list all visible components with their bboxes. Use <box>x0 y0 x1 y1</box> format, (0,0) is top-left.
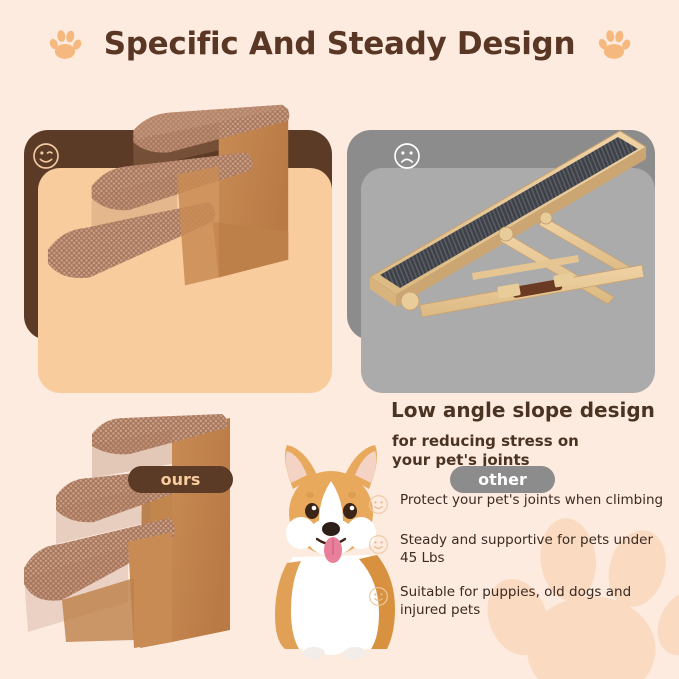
list-item-text: Protect your pet's joints when climbing <box>400 492 663 510</box>
winking-smiley-face-icon <box>31 141 61 171</box>
paw-print-icon <box>48 27 82 61</box>
feature-section: Low angle slope design for reducing stre… <box>0 382 679 679</box>
feature-bullet-list: Protect your pet's joints when climbing … <box>368 492 674 636</box>
smiley-face-icon <box>368 586 389 607</box>
page-title: Specific And Steady Design <box>104 26 575 62</box>
label-ours: ours <box>128 466 233 493</box>
label-other: other <box>450 466 555 493</box>
pet-stairs-3-tier-foam-icon <box>38 82 316 322</box>
feature-subhead-line1: for reducing stress on <box>392 432 672 451</box>
smiley-face-icon <box>368 534 389 555</box>
list-item: Protect your pet's joints when climbing <box>368 492 674 515</box>
comparison-section: ours <box>0 130 679 375</box>
feature-copy: Low angle slope design for reducing stre… <box>392 398 672 470</box>
label-other-text: other <box>478 470 527 489</box>
list-item-text: Steady and supportive for pets under 45 … <box>400 532 674 567</box>
smiley-face-icon <box>368 494 389 515</box>
label-ours-text: ours <box>161 470 201 489</box>
list-item: Suitable for puppies, old dogs and injur… <box>368 584 674 619</box>
list-item: Steady and supportive for pets under 45 … <box>368 532 674 567</box>
paw-print-icon <box>597 27 631 61</box>
page-header: Specific And Steady Design <box>0 18 679 70</box>
feature-subhead: for reducing stress on your pet's joints <box>392 432 672 470</box>
feature-headline: Low angle slope design <box>391 398 672 422</box>
list-item-text: Suitable for puppies, old dogs and injur… <box>400 584 674 619</box>
infographic-page: Specific And Steady Design <box>0 0 679 679</box>
sad-face-icon <box>392 141 422 171</box>
